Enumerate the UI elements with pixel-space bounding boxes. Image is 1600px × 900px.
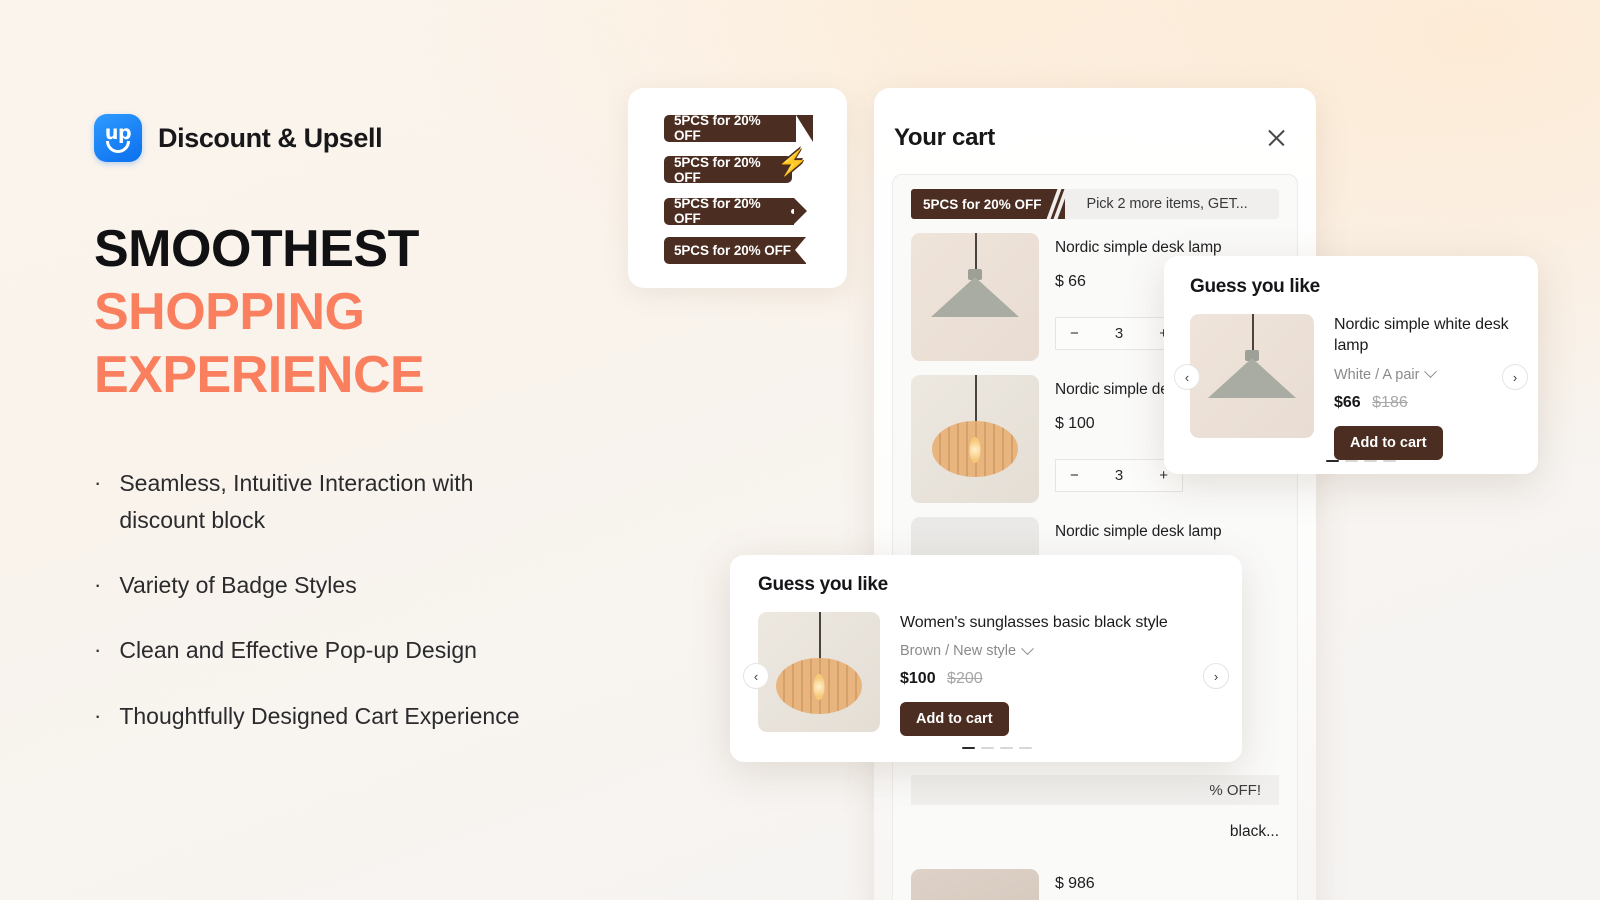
badge-label: 5PCS for 20% OFF xyxy=(674,155,780,185)
product-info: $ 986 − 3 + xyxy=(1055,869,1279,900)
discount-badge-tag[interactable]: 5PCS for 20% OFF xyxy=(664,198,794,225)
discount-badge-flag[interactable]: 5PCS for 20% OFF xyxy=(664,115,796,142)
chevron-down-icon xyxy=(1425,365,1438,378)
logo-smile-shape xyxy=(106,141,130,153)
bullet-dot-icon: · xyxy=(94,465,101,540)
product-thumbnail[interactable] xyxy=(758,612,880,732)
guess-you-like-popup-right: Guess you like Nordic simple white desk … xyxy=(1164,256,1538,474)
grey-pendant-lamp-image xyxy=(911,233,1039,361)
product-thumbnail[interactable] xyxy=(911,869,1039,900)
current-price: $66 xyxy=(1334,394,1361,411)
compare-price: $200 xyxy=(947,670,983,687)
bullet-text: Thoughtfully Designed Cart Experience xyxy=(119,698,519,735)
bullet-text: Variety of Badge Styles xyxy=(119,567,356,604)
chevron-down-icon xyxy=(1021,642,1034,655)
bullet-dot-icon: · xyxy=(94,567,101,604)
popup-title: Guess you like xyxy=(758,574,1242,596)
wood-pendant-lamp-image xyxy=(758,612,880,732)
cart-header: Your cart xyxy=(874,88,1316,152)
bullet-dot-icon: · xyxy=(94,632,101,669)
brand-row: up Discount & Upsell xyxy=(94,114,614,162)
headline-line-1: SMOOTHEST xyxy=(94,218,614,281)
cart-title: Your cart xyxy=(894,124,995,152)
carousel-dot[interactable] xyxy=(1345,460,1358,463)
compare-price: $186 xyxy=(1372,394,1408,411)
product-thumbnail[interactable] xyxy=(1190,314,1314,438)
variant-label: White / A pair xyxy=(1334,367,1419,383)
promo-message-partial: % OFF! xyxy=(1209,782,1261,799)
badge-label: 5PCS for 20% OFF xyxy=(674,113,784,143)
close-icon[interactable] xyxy=(1264,126,1288,150)
increment-button[interactable]: + xyxy=(1159,467,1168,484)
brand-name: Discount & Upsell xyxy=(158,123,382,154)
product-name: Nordic simple white desk lamp xyxy=(1334,314,1538,357)
discount-badge-ribbon[interactable]: 5PCS for 20% OFF xyxy=(664,237,806,264)
cart-drawer: Your cart 5PCS for 20% OFF Pick 2 more i… xyxy=(874,88,1316,900)
product-thumbnail[interactable] xyxy=(911,233,1039,361)
list-item: · Thoughtfully Designed Cart Experience xyxy=(94,698,564,735)
carousel-dot[interactable] xyxy=(1326,460,1339,463)
product-price: $ 986 xyxy=(1055,875,1279,893)
promo-badge: 5PCS for 20% OFF xyxy=(911,189,1052,219)
add-to-cart-button[interactable]: Add to cart xyxy=(900,702,1009,736)
quantity-value: 3 xyxy=(1115,467,1123,484)
table-row[interactable]: $ 986 − 3 + xyxy=(893,855,1297,900)
chevron-left-icon[interactable]: ‹ xyxy=(743,663,769,689)
carousel-dot[interactable] xyxy=(1383,460,1396,463)
guess-you-like-popup-bottom: Guess you like Women's sunglasses basic … xyxy=(730,555,1242,762)
tag-hole-dot-icon xyxy=(791,209,796,214)
decrement-button[interactable]: − xyxy=(1070,467,1079,484)
product-name: Nordic simple desk lamp xyxy=(1055,523,1279,541)
carousel-dot[interactable] xyxy=(962,747,975,750)
badge-label: 5PCS for 20% OFF xyxy=(674,196,782,226)
promo-slash-decor-icon xyxy=(1052,189,1065,219)
promo-badge-label: 5PCS for 20% OFF xyxy=(923,197,1042,212)
up-smile-logo-icon: up xyxy=(94,114,142,162)
carousel-dot[interactable] xyxy=(1000,747,1013,750)
cart-promo-bar[interactable]: 5PCS for 20% OFF Pick 2 more items, GET.… xyxy=(911,189,1279,219)
popup-product: Nordic simple white desk lamp White / A … xyxy=(1190,314,1538,460)
list-item: · Clean and Effective Pop-up Design xyxy=(94,632,564,669)
carousel-pagination[interactable] xyxy=(1326,460,1396,463)
badge-label: 5PCS for 20% OFF xyxy=(674,243,791,258)
carousel-pagination[interactable] xyxy=(962,747,1032,750)
headline-line-2: SHOPPING xyxy=(94,281,614,344)
discount-badge-lightning[interactable]: 5PCS for 20% OFF ⚡ xyxy=(664,156,792,183)
product-name: Women's sunglasses basic black style xyxy=(900,612,1168,633)
product-details: Women's sunglasses basic black style Bro… xyxy=(900,612,1168,736)
page-title: SMOOTHEST SHOPPING EXPERIENCE xyxy=(94,218,614,407)
chevron-right-icon[interactable]: › xyxy=(1502,364,1528,390)
list-item: · Variety of Badge Styles xyxy=(94,567,564,604)
hero-left-column: up Discount & Upsell SMOOTHEST SHOPPING … xyxy=(94,114,614,763)
lightning-bolt-icon: ⚡ xyxy=(777,151,808,176)
popup-product: Women's sunglasses basic black style Bro… xyxy=(758,612,1242,736)
grey-pendant-lamp-image xyxy=(1190,314,1314,438)
product-name: Nordic simple desk lamp xyxy=(1055,239,1279,257)
list-item: · Seamless, Intuitive Interaction with d… xyxy=(94,465,564,540)
carousel-dot[interactable] xyxy=(981,747,994,750)
product-thumbnail[interactable] xyxy=(911,375,1039,503)
cart-promo-bar-secondary[interactable]: % OFF! xyxy=(911,775,1279,805)
wood-pendant-lamp-image xyxy=(911,375,1039,503)
product-name-partial: black... xyxy=(1230,823,1279,841)
popup-title: Guess you like xyxy=(1190,276,1538,298)
add-to-cart-button[interactable]: Add to cart xyxy=(1334,426,1443,460)
carousel-dot[interactable] xyxy=(1364,460,1377,463)
feature-bullet-list: · Seamless, Intuitive Interaction with d… xyxy=(94,465,614,735)
quantity-value: 3 xyxy=(1115,325,1123,342)
chevron-left-icon[interactable]: ‹ xyxy=(1174,364,1200,390)
bullet-dot-icon: · xyxy=(94,698,101,735)
badge-styles-panel: 5PCS for 20% OFF 5PCS for 20% OFF ⚡ 5PCS… xyxy=(628,88,847,288)
variant-label: Brown / New style xyxy=(900,643,1016,659)
variant-selector[interactable]: Brown / New style xyxy=(900,643,1168,659)
headline-line-3: EXPERIENCE xyxy=(94,344,614,407)
price-row: $66 $186 xyxy=(1334,394,1538,412)
carousel-dot[interactable] xyxy=(1019,747,1032,750)
record-player-image xyxy=(911,869,1039,900)
decrement-button[interactable]: − xyxy=(1070,325,1079,342)
bullet-text: Seamless, Intuitive Interaction with dis… xyxy=(119,465,564,540)
chevron-right-icon[interactable]: › xyxy=(1203,663,1229,689)
bullet-text: Clean and Effective Pop-up Design xyxy=(119,632,477,669)
current-price: $100 xyxy=(900,670,936,687)
price-row: $100 $200 xyxy=(900,670,1168,688)
promo-message: Pick 2 more items, GET... xyxy=(1065,189,1279,219)
